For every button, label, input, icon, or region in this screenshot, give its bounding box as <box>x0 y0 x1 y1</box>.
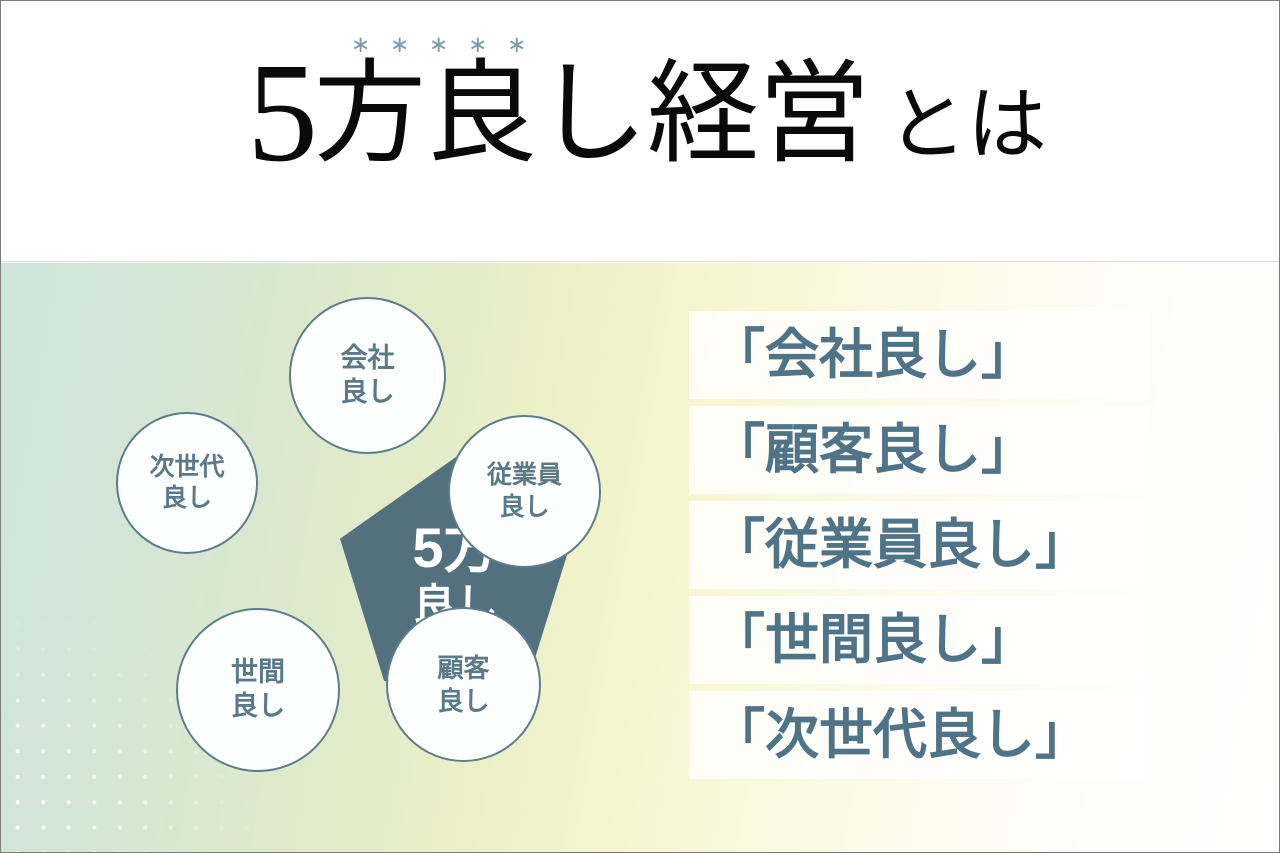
node-label-line1: 世間 <box>231 657 285 689</box>
list-item-label: 「顧客良し」 <box>711 423 1035 477</box>
list-item: 「次世代良し」 <box>689 691 1149 779</box>
slide-canvas: ∗ ∗ ∗ ∗ ∗ 5方良し経営とは 5方 良し 会社 良し 従業員 良し <box>0 0 1280 853</box>
diagram-node-company: 会社 良し <box>289 297 446 454</box>
node-label-line2: 良し <box>162 484 212 514</box>
page-title: 5方良し経営とは <box>247 41 1047 183</box>
title-number: 5 <box>247 33 314 191</box>
five-stakeholder-diagram: 5方 良し 会社 良し 従業員 良し 顧客 良し 世間 良し 次世代 良し <box>96 295 656 825</box>
stakeholder-list: 「会社良し」 「顧客良し」 「従業員良し」 「世間良し」 「次世代良し」 <box>689 311 1149 786</box>
node-label-line2: 良し <box>231 691 285 723</box>
node-label-line1: 会社 <box>341 343 395 375</box>
title-block: ∗ ∗ ∗ ∗ ∗ 5方良し経営とは <box>247 29 1147 229</box>
list-item-label: 「会社良し」 <box>711 328 1035 382</box>
node-label-line2: 良し <box>499 493 549 523</box>
diagram-node-customer: 顧客 良し <box>386 607 541 762</box>
slide-header: ∗ ∗ ∗ ∗ ∗ 5方良し経営とは <box>1 1 1280 262</box>
diagram-node-society: 世間 良し <box>176 608 340 772</box>
node-label-line2: 良し <box>437 686 489 717</box>
node-label-line1: 従業員 <box>487 461 562 491</box>
node-label-line2: 良し <box>341 377 395 409</box>
list-item-label: 「次世代良し」 <box>711 708 1089 762</box>
list-item: 「顧客良し」 <box>689 406 1149 494</box>
list-item: 「従業員良し」 <box>689 501 1149 589</box>
title-main-text: 方良し経営 <box>314 53 869 177</box>
list-item: 「世間良し」 <box>689 596 1149 684</box>
list-item-label: 「世間良し」 <box>711 613 1035 667</box>
diagram-node-next-generation: 次世代 良し <box>116 412 258 554</box>
list-item: 「会社良し」 <box>689 311 1149 399</box>
node-label-line1: 顧客 <box>437 653 489 684</box>
title-suffix-text: とは <box>887 82 1047 170</box>
node-label-line1: 次世代 <box>149 453 224 483</box>
slide-body: 5方 良し 会社 良し 従業員 良し 顧客 良し 世間 良し 次世代 良し <box>1 263 1280 853</box>
diagram-node-employee: 従業員 良し <box>448 415 601 568</box>
list-item-label: 「従業員良し」 <box>711 518 1089 572</box>
